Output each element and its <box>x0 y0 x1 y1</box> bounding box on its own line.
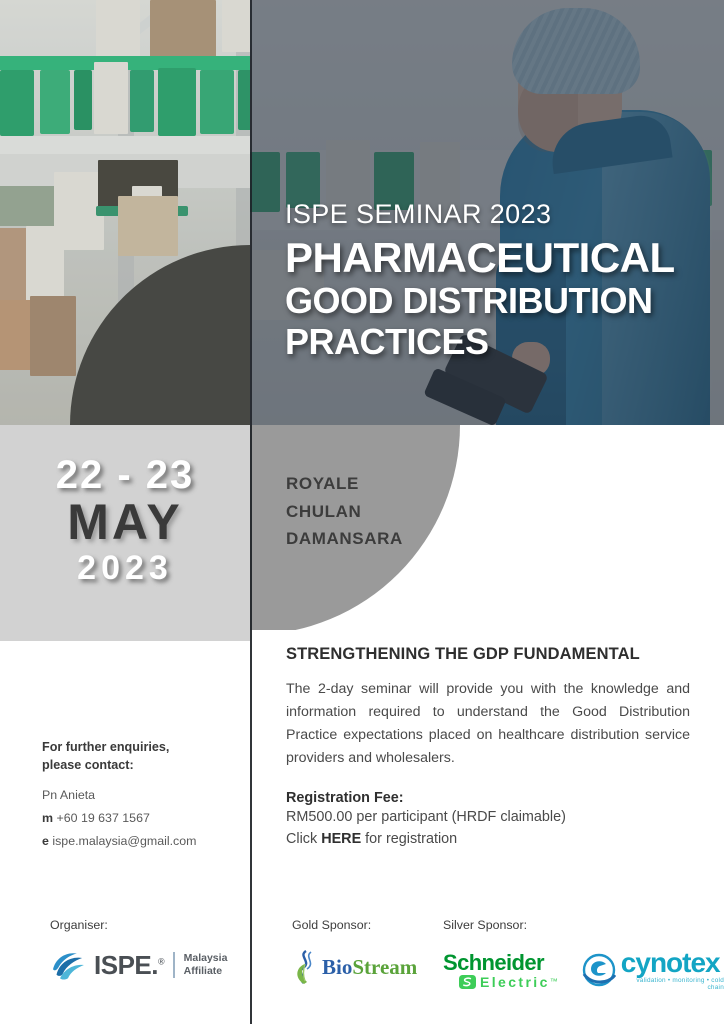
register-prefix: Click <box>286 831 321 847</box>
schneider-badge-icon <box>459 975 476 989</box>
ispe-affiliate-line-2: Affiliate <box>184 965 228 978</box>
schneider-electric-row: Electric™ <box>459 975 558 989</box>
main-content: STRENGTHENING THE GDP FUNDAMENTAL The 2-… <box>286 645 690 851</box>
venue-line-3: DAMANSARA <box>286 525 403 553</box>
ispe-affiliate-line-1: Malaysia <box>184 952 228 965</box>
biostream-bio: Bio <box>322 955 352 979</box>
ispe-divider <box>173 952 175 978</box>
poster-root: ISPE SEMINAR 2023 PHARMACEUTICAL GOOD DI… <box>0 0 724 1024</box>
dna-helix-icon <box>292 950 318 984</box>
vertical-divider-lower <box>250 425 252 1024</box>
content-paragraph: The 2-day seminar will provide you with … <box>286 678 690 770</box>
cynotex-tagline: validation • monitoring • cold chain <box>621 977 724 991</box>
gold-sponsor-block: Gold Sponsor: BioStream <box>292 918 417 984</box>
silver-sponsor-block: Silver Sponsor: Schneider Electric™ <box>443 918 724 991</box>
organiser-block: Organiser: ISPE.® Malaysia Affiliate <box>50 918 227 980</box>
cynotex-swoosh-icon <box>582 953 616 987</box>
hero-photo-area: ISPE SEMINAR 2023 PHARMACEUTICAL GOOD DI… <box>0 0 724 425</box>
ispe-period: . <box>151 950 158 980</box>
registered-mark-icon: ® <box>158 956 164 966</box>
contact-name: Pn Anieta <box>42 785 242 806</box>
warehouse-photo <box>0 0 250 425</box>
register-here-link[interactable]: HERE <box>321 831 361 847</box>
biostream-logo: BioStream <box>292 950 417 984</box>
biostream-wordmark: BioStream <box>322 957 417 978</box>
schneider-electric-logo: Schneider Electric™ <box>443 952 558 989</box>
schneider-wordmark: Schneider <box>443 952 558 974</box>
register-suffix: for registration <box>361 831 457 847</box>
cynotex-logo: cynotex validation • monitoring • cold c… <box>582 950 724 991</box>
cynotex-text-block: cynotex validation • monitoring • cold c… <box>621 950 724 991</box>
contact-block: For further enquiries, please contact: P… <box>42 738 242 852</box>
biostream-stream: Stream <box>352 955 417 979</box>
seminar-kicker: ISPE SEMINAR 2023 <box>285 200 705 230</box>
venue-block: ROYALE CHULAN DAMANSARA <box>286 470 403 553</box>
silver-logo-row: Schneider Electric™ cynotex v <box>443 950 724 991</box>
content-headline: STRENGTHENING THE GDP FUNDAMENTAL <box>286 645 690 664</box>
date-year: 2023 <box>0 551 250 585</box>
venue-panel: ROYALE CHULAN DAMANSARA <box>250 425 724 630</box>
organiser-label: Organiser: <box>50 918 227 932</box>
contact-mobile-line: m +60 19 637 1567 <box>42 808 242 829</box>
email-prefix: e <box>42 834 49 848</box>
silver-sponsor-label: Silver Sponsor: <box>443 918 724 932</box>
contact-heading-1: For further enquiries, <box>42 738 242 756</box>
contact-email-line: e ispe.malaysia@gmail.com <box>42 831 242 852</box>
date-block: 22 - 23 MAY 2023 <box>0 455 250 585</box>
gold-sponsor-label: Gold Sponsor: <box>292 918 417 932</box>
contact-email[interactable]: ispe.malaysia@gmail.com <box>52 834 196 848</box>
venue-line-1: ROYALE <box>286 470 403 498</box>
mobile-prefix: m <box>42 811 53 825</box>
contact-heading-2: please contact: <box>42 756 242 774</box>
electric-text: Electric <box>480 975 550 989</box>
cynotex-wordmark: cynotex <box>621 950 724 976</box>
date-month: MAY <box>0 497 250 547</box>
title-line-1: PHARMACEUTICAL <box>285 238 705 278</box>
contact-mobile[interactable]: +60 19 637 1567 <box>56 811 149 825</box>
ispe-wordmark: ISPE.® <box>94 952 164 978</box>
registration-fee-title: Registration Fee: <box>286 790 690 806</box>
ispe-globe-icon <box>50 950 86 980</box>
registration-fee-amount: RM500.00 per participant (HRDF claimable… <box>286 806 690 828</box>
ispe-affiliate: Malaysia Affiliate <box>184 952 228 978</box>
schneider-text: Schneider <box>443 950 544 975</box>
vertical-divider <box>250 0 252 425</box>
trademark-icon: ™ <box>550 978 558 986</box>
date-days: 22 - 23 <box>0 455 250 495</box>
title-block: ISPE SEMINAR 2023 PHARMACEUTICAL GOOD DI… <box>285 200 705 359</box>
title-line-3: PRACTICES <box>285 325 705 360</box>
ispe-word-text: ISPE <box>94 950 151 980</box>
photo-tint-left <box>0 0 250 425</box>
venue-line-2: CHULAN <box>286 498 403 526</box>
ispe-logo: ISPE.® Malaysia Affiliate <box>50 950 227 980</box>
registration-link-line[interactable]: Click HERE for registration <box>286 828 690 850</box>
title-line-2: GOOD DISTRIBUTION <box>285 284 705 319</box>
